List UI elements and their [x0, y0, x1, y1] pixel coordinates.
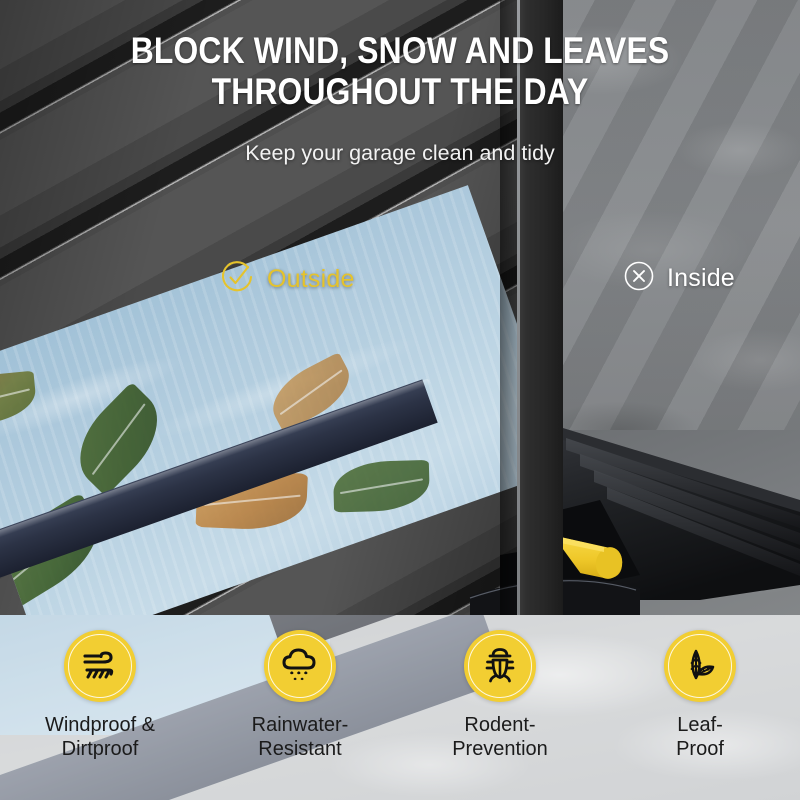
feature-icon-badge [664, 630, 736, 702]
feature-icon-badge [464, 630, 536, 702]
feature-icon-badge [264, 630, 336, 702]
feature-rainwater: Rainwater- Resistant [200, 630, 400, 761]
bug-icon [479, 643, 521, 690]
feature-row: Windproof & Dirtproof Rainwater- Resista… [0, 630, 800, 800]
seal-outer-lip [0, 379, 438, 596]
feature-label: Leaf- Proof [676, 714, 724, 761]
tag-inside-label: Inside [667, 264, 735, 293]
check-circle-icon [218, 258, 256, 301]
feature-icon-badge [64, 630, 136, 702]
tag-outside: Outside [218, 258, 355, 301]
tag-outside-label: Outside [267, 265, 355, 294]
feature-label: Windproof & Dirtproof [45, 714, 155, 761]
rain-cloud-icon [279, 643, 321, 690]
page-headline: BLOCK WIND, SNOW AND LEAVES THROUGHOUT T… [56, 30, 744, 112]
feature-label: Rodent- Prevention [452, 714, 548, 761]
seal-assembly [0, 300, 800, 640]
feature-windproof: Windproof & Dirtproof [0, 630, 200, 761]
feature-leaf: Leaf- Proof [600, 630, 800, 761]
feature-rodent: Rodent- Prevention [400, 630, 600, 761]
x-circle-icon [622, 259, 656, 298]
tag-inside: Inside [622, 259, 735, 298]
product-marketing-image: BLOCK WIND, SNOW AND LEAVES THROUGHOUT T… [0, 0, 800, 800]
feature-label: Rainwater- Resistant [252, 714, 349, 761]
page-subheadline: Keep your garage clean and tidy [0, 141, 800, 166]
leaf-icon [679, 643, 721, 690]
wind-icon [79, 643, 121, 690]
